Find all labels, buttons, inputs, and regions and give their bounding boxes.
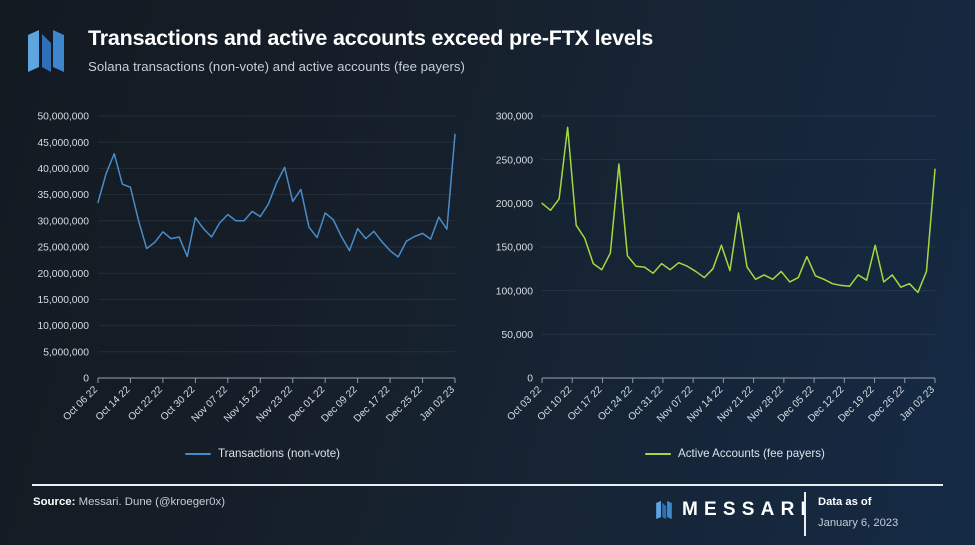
svg-text:250,000: 250,000	[496, 155, 533, 166]
data-as-of-label: Data as of	[818, 496, 898, 508]
svg-text:300,000: 300,000	[496, 112, 533, 123]
legend-label-active-accounts: Active Accounts (fee payers)	[678, 447, 825, 460]
active-accounts-x-axis	[542, 378, 935, 383]
svg-text:200,000: 200,000	[496, 199, 533, 210]
source-label: Source:	[33, 496, 75, 508]
svg-text:10,000,000: 10,000,000	[37, 321, 89, 332]
header: Transactions and active accounts exceed …	[26, 24, 653, 74]
svg-text:0: 0	[83, 374, 89, 385]
svg-text:45,000,000: 45,000,000	[37, 138, 89, 149]
svg-text:35,000,000: 35,000,000	[37, 190, 89, 201]
svg-text:20,000,000: 20,000,000	[37, 269, 89, 280]
active-accounts-chart-svg: 050,000100,000150,000200,000250,000300,0…	[480, 98, 965, 473]
transactions-gridlines	[98, 116, 455, 352]
svg-text:Dec 25 22: Dec 25 22	[384, 384, 425, 425]
svg-text:5,000,000: 5,000,000	[43, 347, 89, 358]
svg-text:100,000: 100,000	[496, 286, 533, 297]
active-accounts-x-axis-labels: Oct 03 22Oct 10 22Oct 17 22Oct 24 22Oct …	[505, 384, 937, 425]
active-accounts-y-axis-labels: 050,000100,000150,000200,000250,000300,0…	[496, 112, 534, 385]
svg-text:40,000,000: 40,000,000	[37, 164, 89, 175]
active-accounts-series-line	[542, 127, 935, 292]
messari-wordmark: MESSARI	[682, 499, 812, 521]
legend-swatch-active-accounts	[645, 453, 671, 455]
footer-vertical-divider	[804, 492, 806, 536]
infographic-page: Transactions and active accounts exceed …	[0, 0, 975, 545]
legend-transactions: Transactions (non-vote)	[185, 447, 340, 460]
legend-active-accounts: Active Accounts (fee payers)	[645, 447, 825, 460]
transactions-series-line	[98, 134, 455, 257]
source-note: Source: Messari. Dune (@kroeger0x)	[33, 496, 225, 508]
footer-divider-rule	[32, 484, 943, 486]
svg-text:50,000,000: 50,000,000	[37, 112, 89, 123]
svg-text:30,000,000: 30,000,000	[37, 216, 89, 227]
data-as-of-block: Data as of January 6, 2023	[818, 496, 898, 529]
active-accounts-gridlines	[542, 116, 935, 334]
svg-text:15,000,000: 15,000,000	[37, 295, 89, 306]
messari-logo-icon	[26, 28, 66, 74]
legend-label-transactions: Transactions (non-vote)	[218, 447, 340, 460]
svg-text:150,000: 150,000	[496, 243, 533, 254]
page-title: Transactions and active accounts exceed …	[88, 26, 653, 51]
header-text: Transactions and active accounts exceed …	[88, 24, 653, 74]
legend-swatch-transactions	[185, 453, 211, 455]
transactions-x-axis	[98, 378, 455, 383]
svg-text:25,000,000: 25,000,000	[37, 243, 89, 254]
svg-text:0: 0	[527, 374, 533, 385]
svg-text:Jan 02 23: Jan 02 23	[418, 384, 457, 423]
data-as-of-value: January 6, 2023	[818, 517, 898, 529]
transactions-x-axis-labels: Oct 06 22Oct 14 22Oct 22 22Oct 30 22Nov …	[61, 384, 457, 425]
transactions-chart-svg: 05,000,00010,000,00015,000,00020,000,000…	[10, 98, 480, 473]
active-accounts-chart-panel: 050,000100,000150,000200,000250,000300,0…	[480, 98, 965, 473]
messari-brand: MESSARI	[655, 499, 812, 521]
source-text: Messari. Dune (@kroeger0x)	[75, 496, 225, 508]
transactions-chart-panel: 05,000,00010,000,00015,000,00020,000,000…	[10, 98, 480, 473]
transactions-y-axis-labels: 05,000,00010,000,00015,000,00020,000,000…	[37, 112, 89, 385]
page-subtitle: Solana transactions (non-vote) and activ…	[88, 59, 653, 74]
charts-area: 05,000,00010,000,00015,000,00020,000,000…	[0, 98, 975, 473]
svg-text:50,000: 50,000	[502, 330, 534, 341]
messari-brand-icon	[655, 500, 673, 520]
